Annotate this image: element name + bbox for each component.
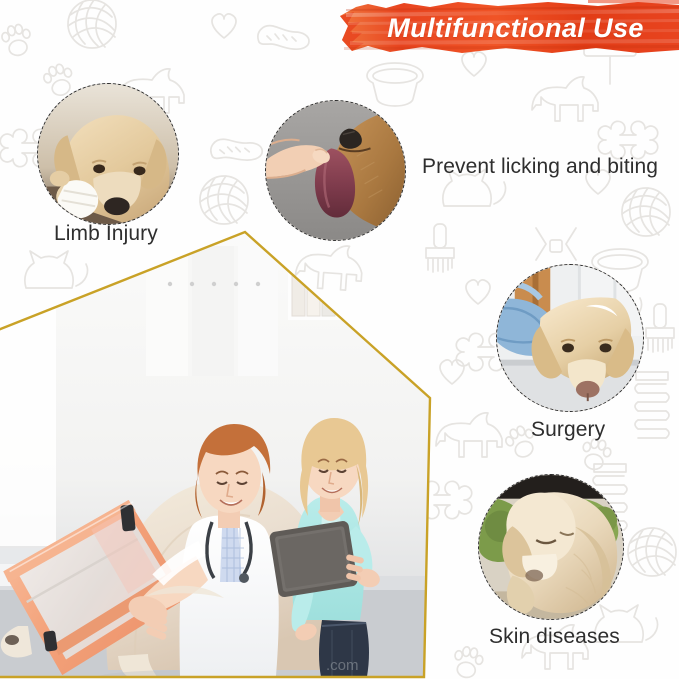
feature-label-skin-diseases: Skin diseases [489, 625, 620, 649]
feature-circle-limb-injury[interactable] [37, 83, 179, 225]
feature-label-limb-injury: Limb Injury [54, 222, 158, 246]
banner-title: Multifunctional Use [338, 0, 679, 56]
feature-label-surgery: Surgery [531, 418, 605, 442]
svg-text:.com: .com [326, 657, 359, 674]
feature-circle-surgery[interactable] [496, 264, 644, 412]
main-product-photo: .com [0, 226, 434, 679]
title-banner: Multifunctional Use [338, 0, 679, 56]
feature-circle-prevent-licking[interactable] [265, 100, 406, 241]
feature-label-prevent-licking: Prevent licking and biting [422, 155, 658, 179]
feature-circle-skin-diseases[interactable] [478, 474, 624, 620]
infographic-canvas: Multifunctional Use [0, 0, 679, 679]
